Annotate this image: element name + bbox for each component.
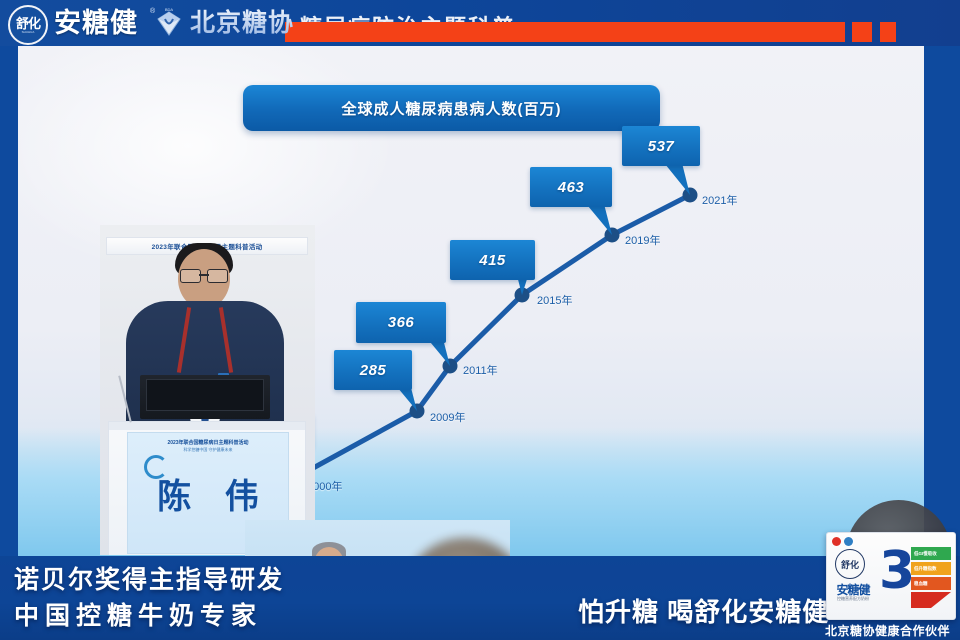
product-bars: 低GI慢吸收 低升糖指数 稳血糖	[911, 547, 951, 610]
red-strip-main	[285, 22, 845, 42]
product-subtitle: 控糖营养配方奶粉	[831, 596, 875, 602]
diamond-icon: BDA	[152, 6, 186, 40]
shuhua-logo-icon: 舒化 SHUHUA	[8, 5, 48, 45]
product-big-number: 3	[879, 545, 915, 597]
frame-left	[0, 46, 18, 640]
callout-2009: 285	[334, 350, 412, 390]
screenshot-root: 全球成人糖尿病患病人数(百万) 537 463 415 366 285 2000…	[0, 0, 960, 640]
product-dots	[832, 537, 853, 546]
callout-value-2009: 285	[360, 362, 387, 379]
product-shuhua-logo-icon: 舒化	[835, 549, 865, 579]
glasses-icon	[180, 269, 228, 281]
speaker-photo: 2023年联合国糖尿病日主题科普活动 2023年联合国糖尿病日主题科普活动 科学…	[100, 225, 315, 555]
brand-name: 安糖健	[54, 8, 138, 38]
bottom-right-slogan: 怕升糖 喝舒化安糖健	[578, 592, 829, 629]
callout-value-2019: 463	[558, 179, 585, 196]
product-bar-2: 稳血糖	[911, 577, 951, 590]
callout-2011: 366	[356, 302, 446, 343]
product-bar-0: 低GI慢吸收	[911, 547, 951, 560]
shuhua-logo-cn: 舒化	[16, 17, 40, 30]
association-name: 北京糖协	[190, 9, 294, 37]
podium-top	[109, 422, 305, 430]
callout-2015: 415	[450, 240, 535, 280]
year-label-2015: 2015年	[537, 292, 572, 308]
ring-icon	[144, 455, 168, 479]
partner-caption: 北京糖协健康合作伙伴	[825, 622, 950, 639]
bottom-left-line-2: 中国控糖牛奶专家	[14, 596, 262, 632]
shuhua-logo-en: SHUHUA	[22, 31, 35, 34]
bottom-left-line-1: 诺贝尔奖得主指导研发	[14, 560, 284, 596]
callout-2019: 463	[530, 167, 612, 207]
plate-line-1: 2023年联合国糖尿病日主题科普活动	[128, 439, 288, 446]
red-strip-2	[852, 22, 872, 42]
year-label-2009: 2009年	[430, 409, 465, 425]
year-label-2019: 2019年	[625, 232, 660, 248]
plate-line-2: 科学控糖中国 守护健康未来	[128, 447, 288, 453]
callout-value-2011: 366	[388, 314, 415, 331]
callout-value-2021: 537	[648, 138, 675, 155]
red-strip-3	[880, 22, 896, 42]
laptop-screen	[146, 379, 264, 411]
speaker-name: 陈 伟	[128, 477, 288, 517]
product-bar-1: 低升糖指数	[911, 562, 951, 575]
product-bar-3	[911, 592, 951, 608]
chart-title-bar: 全球成人糖尿病患病人数(百万)	[243, 85, 660, 131]
product-box: 舒化 安糖健 控糖营养配方奶粉 3 低GI慢吸收 低升糖指数 稳血糖	[826, 532, 956, 620]
laptop	[140, 375, 270, 419]
year-label-2011: 2011年	[463, 362, 498, 378]
top-banner: 糖尿病防治主题科普 舒化 SHUHUA 安糖健 ® BDA 北京糖协	[0, 0, 960, 46]
chart-title-text: 全球成人糖尿病患病人数(百万)	[342, 98, 562, 119]
year-label-2021: 2021年	[702, 192, 737, 208]
callout-2021: 537	[622, 126, 700, 166]
callout-value-2015: 415	[479, 252, 506, 269]
diamond-label: BDA	[165, 7, 174, 12]
speaker-suit	[126, 301, 284, 441]
